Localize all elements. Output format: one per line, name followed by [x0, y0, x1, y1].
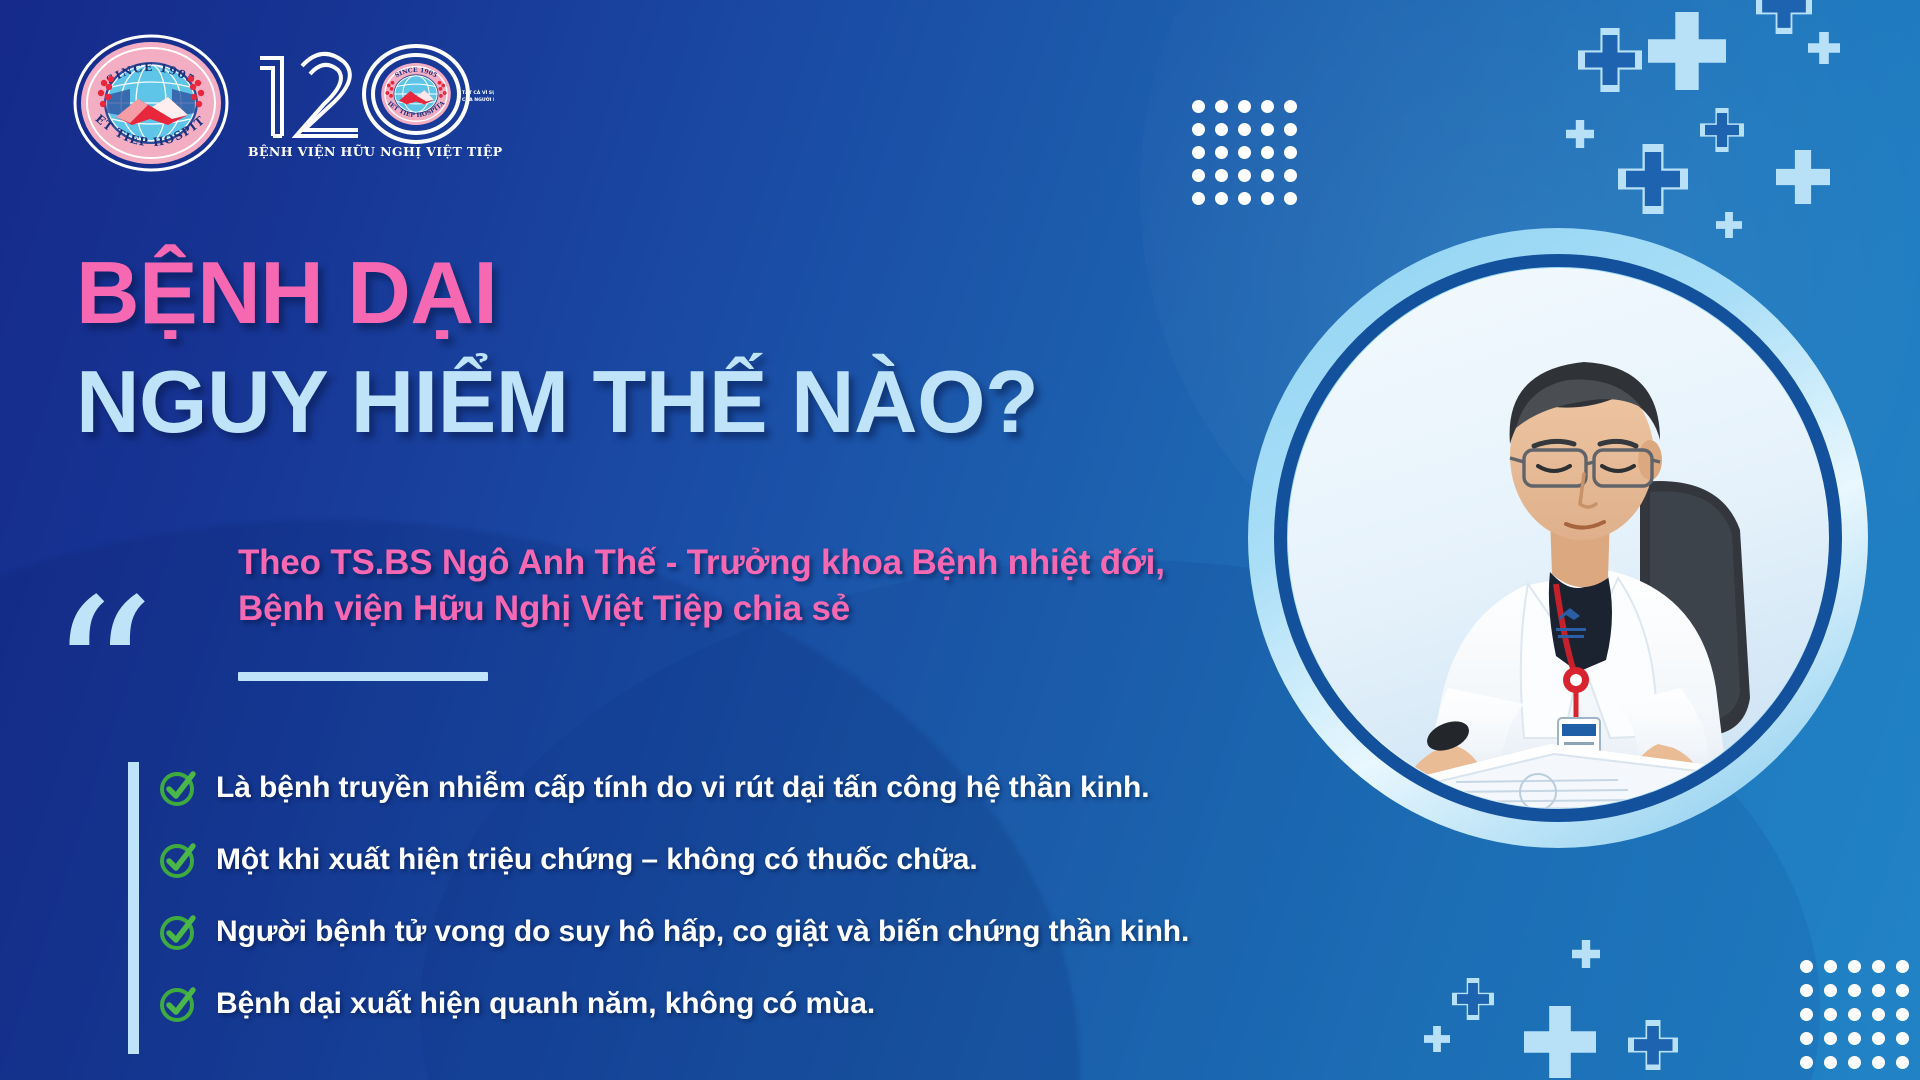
- list-item-text: Một khi xuất hiện triệu chứng – không có…: [216, 843, 978, 877]
- attribution-block: Theo TS.BS Ngô Anh Thế - Trưởng khoa Bện…: [238, 540, 1298, 631]
- dot: [1284, 192, 1297, 205]
- dot: [1896, 960, 1909, 973]
- dot: [1872, 1056, 1885, 1069]
- headline-line-2: NGUY HIỂM THẾ NÀO?: [76, 357, 1038, 448]
- brand-logo-row: SINCE 1905 VIET TIEP HOSPITAL: [72, 32, 494, 174]
- dot: [1824, 984, 1837, 997]
- green-check-icon: [158, 984, 198, 1024]
- dot: [1848, 1056, 1861, 1069]
- dot: [1215, 123, 1228, 136]
- dot: [1824, 960, 1837, 973]
- headline-line-1: BỆNH DẠI: [76, 248, 1038, 339]
- medical-cross-icon: [1700, 108, 1744, 152]
- medical-cross-icon: [1808, 32, 1840, 64]
- dot: [1800, 1056, 1813, 1069]
- anniversary-120-mark: SINCE 1905 VIET TIEP HOSPITAL TẤT CẢ VÌ …: [248, 32, 494, 144]
- dot: [1872, 984, 1885, 997]
- dot: [1872, 1008, 1885, 1021]
- medical-cross-icon: [1648, 12, 1726, 90]
- dot: [1261, 192, 1274, 205]
- list-item: Một khi xuất hiện triệu chứng – không có…: [158, 824, 1268, 896]
- attribution-line-1: Theo TS.BS Ngô Anh Thế - Trưởng khoa Bện…: [238, 540, 1298, 586]
- dot: [1800, 960, 1813, 973]
- dot: [1896, 1008, 1909, 1021]
- dot: [1238, 169, 1251, 182]
- dot: [1238, 192, 1251, 205]
- anniversary-120-logo: SINCE 1905 VIET TIEP HOSPITAL TẤT CẢ VÌ …: [248, 32, 494, 174]
- dot: [1215, 100, 1228, 113]
- list-item: Bệnh dại xuất hiện quanh năm, không có m…: [158, 968, 1268, 1040]
- green-check-icon: [158, 912, 198, 952]
- dot: [1824, 1056, 1837, 1069]
- divider-rule: [238, 672, 488, 681]
- medical-cross-icon: [1424, 1026, 1450, 1052]
- medical-cross-icon: [1776, 150, 1830, 204]
- fact-list: Là bệnh truyền nhiễm cấp tính do vi rút …: [128, 752, 1268, 1040]
- green-check-icon: [158, 840, 198, 880]
- dot: [1192, 146, 1205, 159]
- dot: [1872, 960, 1885, 973]
- medical-cross-icon: [1572, 940, 1600, 968]
- dot: [1872, 1032, 1885, 1045]
- list-item-text: Người bệnh tử vong do suy hô hấp, co giậ…: [216, 915, 1189, 949]
- dot: [1261, 169, 1274, 182]
- dot: [1896, 1032, 1909, 1045]
- dot: [1284, 100, 1297, 113]
- dot: [1848, 1008, 1861, 1021]
- dot: [1238, 123, 1251, 136]
- viet-tiep-hospital-seal-logo: SINCE 1905 VIET TIEP HOSPITAL: [72, 33, 230, 173]
- list-item: Là bệnh truyền nhiễm cấp tính do vi rút …: [158, 752, 1268, 824]
- dot: [1800, 984, 1813, 997]
- quote-mark-icon: “: [48, 612, 155, 742]
- dot: [1215, 192, 1228, 205]
- medical-cross-icon: [1452, 978, 1494, 1020]
- dot-grid-bottom-decoration: [1800, 960, 1909, 1069]
- dot: [1284, 146, 1297, 159]
- list-item: Người bệnh tử vong do suy hô hấp, co giậ…: [158, 896, 1268, 968]
- dot: [1192, 100, 1205, 113]
- dot: [1848, 984, 1861, 997]
- dot: [1192, 123, 1205, 136]
- list-item-text: Là bệnh truyền nhiễm cấp tính do vi rút …: [216, 771, 1149, 805]
- dot: [1238, 100, 1251, 113]
- doctor-portrait: [1248, 228, 1868, 848]
- medical-cross-icon: [1618, 144, 1688, 214]
- dot: [1261, 146, 1274, 159]
- dot: [1215, 169, 1228, 182]
- dot: [1238, 146, 1251, 159]
- dot: [1284, 169, 1297, 182]
- attribution-line-2: Bệnh viện Hữu Nghị Việt Tiệp chia sẻ: [238, 586, 1298, 632]
- dot: [1824, 1008, 1837, 1021]
- dot: [1215, 146, 1228, 159]
- dot: [1824, 1032, 1837, 1045]
- list-item-text: Bệnh dại xuất hiện quanh năm, không có m…: [216, 987, 875, 1021]
- green-check-icon: [158, 768, 198, 808]
- doctor-photo-illustration: [1288, 268, 1828, 808]
- infographic-poster: SINCE 1905 VIET TIEP HOSPITAL: [0, 0, 1920, 1080]
- medical-cross-icon: [1628, 1020, 1678, 1070]
- dot: [1896, 984, 1909, 997]
- dot: [1800, 1032, 1813, 1045]
- dot: [1284, 123, 1297, 136]
- dot: [1848, 1032, 1861, 1045]
- medical-cross-icon: [1524, 1006, 1596, 1078]
- page-title: BỆNH DẠI NGUY HIỂM THẾ NÀO?: [76, 248, 1038, 447]
- dot: [1896, 1056, 1909, 1069]
- dot: [1848, 960, 1861, 973]
- medical-cross-icon: [1578, 28, 1642, 92]
- medical-cross-icon: [1566, 120, 1594, 148]
- portrait-photo: [1288, 268, 1828, 808]
- dot: [1192, 192, 1205, 205]
- anniversary-caption: BỆNH VIỆN HỮU NGHỊ VIỆT TIỆP: [248, 144, 494, 159]
- medical-cross-icon: [1756, 0, 1812, 34]
- dot: [1261, 123, 1274, 136]
- list-accent-rail: [128, 762, 139, 1054]
- dot: [1261, 100, 1274, 113]
- dot: [1192, 169, 1205, 182]
- dot-grid-top-decoration: [1192, 100, 1297, 205]
- dot: [1800, 1008, 1813, 1021]
